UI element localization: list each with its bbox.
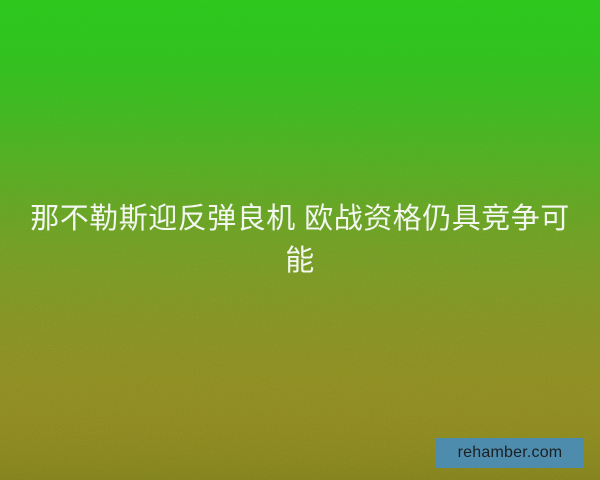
watermark-badge: rehamber.com <box>436 438 584 468</box>
headline-block: 那不勒斯迎反弹良机 欧战资格仍具竞争可能 <box>0 198 600 282</box>
page-title: 那不勒斯迎反弹良机 欧战资格仍具竞争可能 <box>24 198 576 282</box>
watermark-label: rehamber.com <box>458 445 563 461</box>
image-banner: 那不勒斯迎反弹良机 欧战资格仍具竞争可能 rehamber.com <box>0 0 600 480</box>
